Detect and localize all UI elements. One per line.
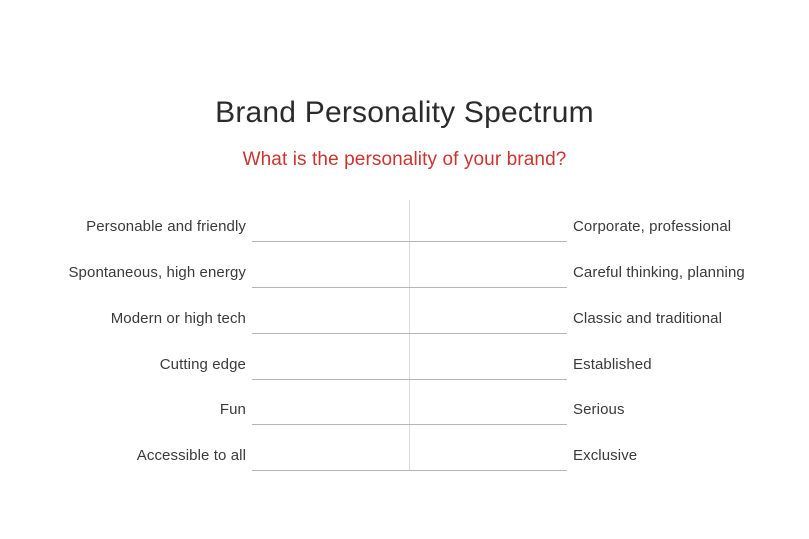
spectrum-row: Fun Serious	[0, 383, 809, 429]
spectrum-left-label: Fun	[220, 401, 246, 419]
spectrum-right-label: Classic and traditional	[573, 310, 722, 328]
spectrum-right-label: Serious	[573, 401, 625, 419]
spectrum-scale-line[interactable]	[252, 241, 567, 242]
spectrum-left-label: Personable and friendly	[86, 218, 246, 236]
spectrum-row: Accessible to all Exclusive	[0, 429, 809, 475]
spectrum-scale-line[interactable]	[252, 379, 567, 380]
spectrum-left-label: Cutting edge	[160, 356, 246, 374]
spectrum-scale-line[interactable]	[252, 287, 567, 288]
spectrum-right-label: Established	[573, 356, 652, 374]
spectrum-right-label: Careful thinking, planning	[573, 264, 745, 282]
spectrum-scale-line[interactable]	[252, 424, 567, 425]
spectrum-row: Modern or high tech Classic and traditio…	[0, 292, 809, 338]
spectrum-left-label: Modern or high tech	[111, 310, 246, 328]
spectrum-left-label: Spontaneous, high energy	[68, 264, 246, 282]
spectrum-row: Personable and friendly Corporate, profe…	[0, 200, 809, 246]
spectrum-scale-line[interactable]	[252, 333, 567, 334]
spectrum-row: Cutting edge Established	[0, 338, 809, 384]
page-title: Brand Personality Spectrum	[0, 96, 809, 129]
spectrum-right-label: Exclusive	[573, 447, 637, 465]
spectrum-scale-line[interactable]	[252, 470, 567, 471]
spectrum-row: Spontaneous, high energy Careful thinkin…	[0, 246, 809, 292]
page-subtitle: What is the personality of your brand?	[0, 150, 809, 171]
spectrum-left-label: Accessible to all	[137, 447, 246, 465]
spectrum-grid: Personable and friendly Corporate, profe…	[0, 200, 809, 472]
slide-canvas: Brand Personality Spectrum What is the p…	[0, 0, 809, 539]
spectrum-right-label: Corporate, professional	[573, 218, 731, 236]
